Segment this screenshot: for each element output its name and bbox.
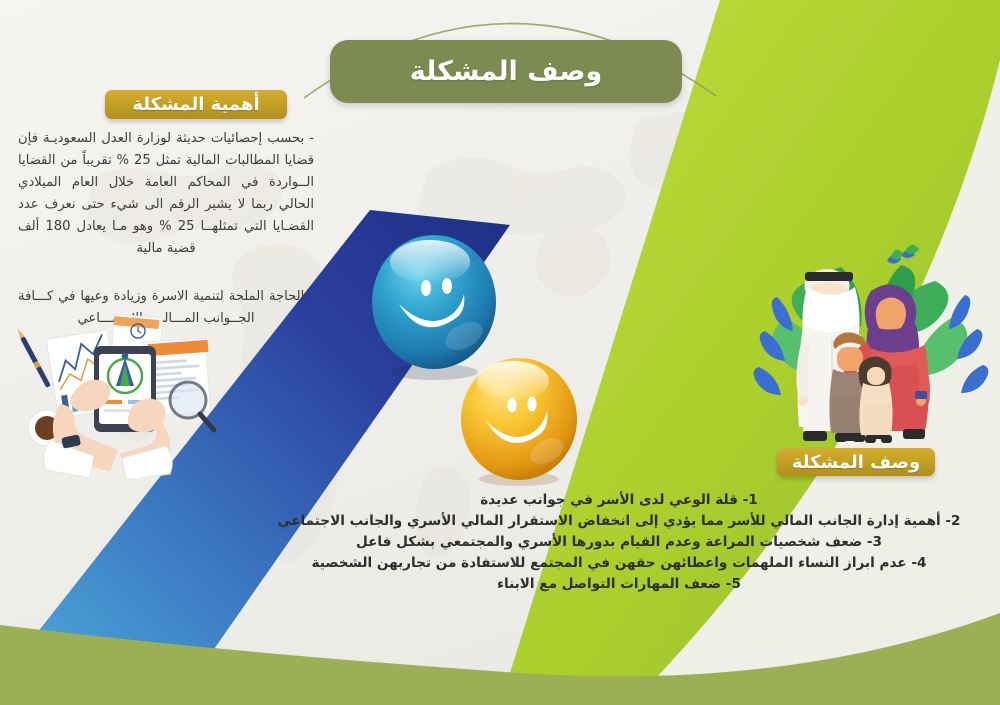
badge-importance: أهمية المشكلة	[105, 90, 287, 119]
workspace-tablet-charts-illustration	[16, 300, 232, 478]
badge-description-label: وصف المشكلة	[792, 452, 920, 473]
list-item: 1- قلة الوعي لدى الأسر في جوانب عديدة	[266, 490, 972, 511]
page-title-text: وصف المشكلة	[410, 56, 603, 87]
list-item: 5- ضعف المهارات التواصل مع الابناء	[266, 574, 972, 595]
badge-importance-label: أهمية المشكلة	[132, 94, 259, 115]
family-girl	[859, 356, 893, 443]
saudi-family-illustration	[745, 243, 997, 458]
list-item: 3- ضعف شخصيات المراعة وعدم القيام بدورها…	[266, 532, 972, 553]
importance-paragraph-1: - بحسب إحصائيات حديثة لوزارة العدل السعو…	[18, 128, 314, 260]
badge-description: وصف المشكلة	[777, 448, 935, 476]
page-title: وصف المشكلة	[330, 40, 682, 103]
slide-canvas: وصف المشكلة أهمية المشكلة - بحسب إحصائيا…	[0, 0, 1000, 705]
list-item: 4- عدم ابراز النساء الملهمات واعطائهن حق…	[266, 553, 972, 574]
gold-smiley-sphere	[455, 355, 583, 487]
description-list: 1- قلة الوعي لدى الأسر في جوانب عديدة 2-…	[266, 490, 972, 595]
list-item: 2- أهمية إدارة الجانب المالي للأسر مما ي…	[266, 511, 972, 532]
bottom-olive-curve	[0, 595, 1000, 705]
